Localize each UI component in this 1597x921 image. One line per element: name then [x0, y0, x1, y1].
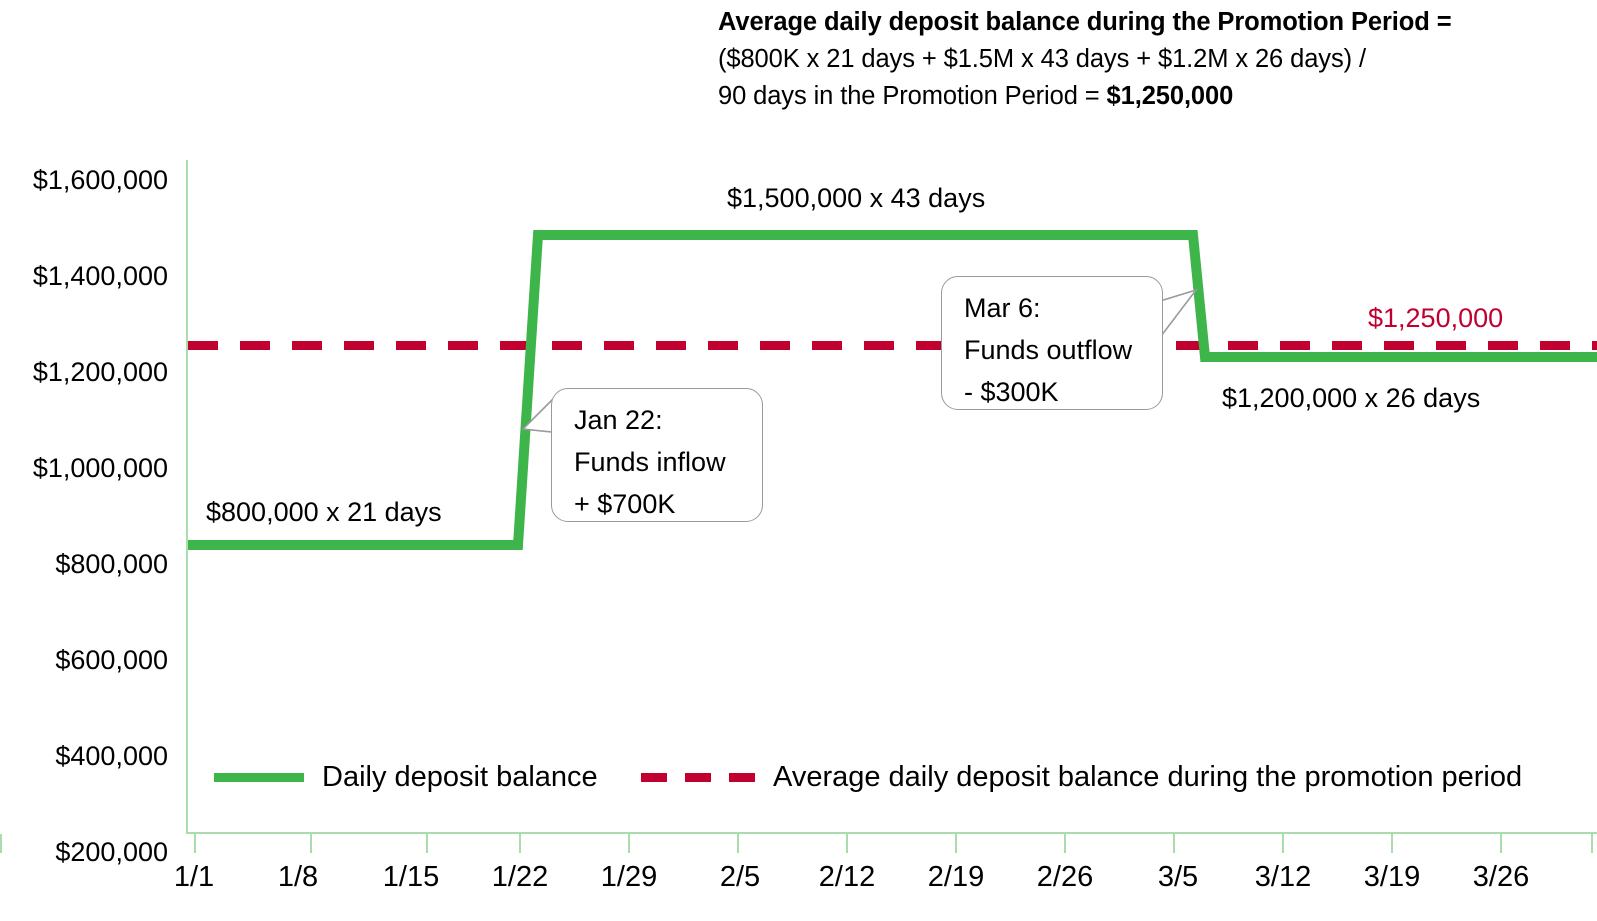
- callout-mar6-line-3: - $300K: [964, 371, 1144, 413]
- segment-3-data-label: $1,200,000 x 26 days: [1222, 383, 1480, 413]
- legend-swatch-solid-line-icon: [214, 773, 304, 782]
- callout-jan22-line-3: + $700K: [574, 483, 744, 525]
- callout-mar6-line-1: Mar 6:: [964, 287, 1144, 329]
- chart-canvas: Average daily deposit balance during the…: [0, 0, 1597, 921]
- legend-item-average-balance[interactable]: Average daily deposit balance during the…: [641, 762, 1522, 792]
- legend-swatch-dashed-line-icon: [641, 773, 755, 782]
- callout-jan22-line-1: Jan 22:: [574, 399, 744, 441]
- legend-item-daily-deposit-balance[interactable]: Daily deposit balance: [214, 762, 598, 792]
- legend-label-daily: Daily deposit balance: [322, 762, 598, 792]
- segment-2-data-label: $1,500,000 x 43 days: [727, 183, 985, 213]
- callout-mar6-line-2: Funds outflow: [964, 329, 1144, 371]
- average-value-data-label: $1,250,000: [1368, 303, 1503, 333]
- legend-label-average: Average daily deposit balance during the…: [773, 762, 1522, 792]
- callout-jan22: Jan 22: Funds inflow + $700K: [551, 388, 763, 522]
- callout-jan22-line-2: Funds inflow: [574, 441, 744, 483]
- segment-1-data-label: $800,000 x 21 days: [206, 497, 442, 527]
- chart-legend: Daily deposit balance Average daily depo…: [214, 762, 1534, 806]
- callout-mar6: Mar 6: Funds outflow - $300K: [941, 276, 1163, 410]
